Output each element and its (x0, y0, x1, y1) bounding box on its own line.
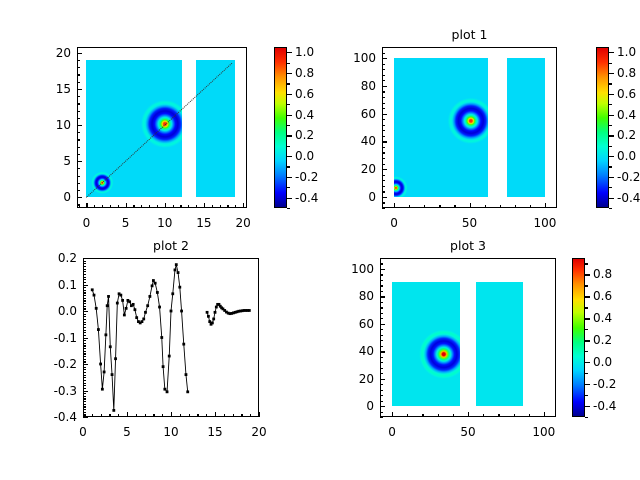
panel-bottom-right-colorbar-minortick (585, 274, 588, 275)
panel-bottom-right-xminortick (483, 414, 484, 417)
panel-bottom-right-yminortick (380, 329, 383, 330)
panel-bottom-right-yminortick (380, 412, 383, 413)
band-background (476, 282, 523, 406)
panel-bottom-right-yminortick (380, 263, 383, 264)
panel-bottom-right-xminortick (453, 414, 454, 417)
panel-bottom-right-colorbar-minortick (585, 307, 588, 308)
panel-bottom-right-colorbar-minortick (585, 417, 588, 418)
panel-bottom-right-yminortick (380, 401, 383, 402)
panel-bottom-right-xminortick (407, 414, 408, 417)
panel-bottom-right-yminortick (380, 258, 383, 259)
panel-bottom-right-colorbar-minortick (585, 406, 588, 407)
panel-bottom-right-colorbar-minortick (585, 351, 588, 352)
panel-bottom-right-colorbar-ticklabel: 0.4 (593, 311, 612, 325)
panel-bottom-right-yminortick (380, 357, 383, 358)
panel-bottom-right-xminortick (392, 414, 393, 417)
panel-bottom-right-yticklabel: 100 (334, 262, 374, 276)
panel-bottom-right-yminortick (380, 362, 383, 363)
panel-bottom-right-colorbar-minortick (585, 362, 588, 363)
panel-bottom-right-yminortick (380, 384, 383, 385)
panel-bottom-right-yminortick (380, 302, 383, 303)
panel-bottom-right-yminortick (380, 296, 383, 297)
panel-bottom-right-yminortick (380, 340, 383, 341)
panel-bottom-right-colorbar-minortick (585, 373, 588, 374)
panel-bottom-right-colorbar-ticklabel: 0.0 (593, 355, 612, 369)
panel-bottom-right-colorbar-ticklabel: -0.4 (593, 399, 616, 413)
panel-bottom-right-colorbar-minortick (585, 318, 588, 319)
panel-bottom-right-image-band (476, 282, 523, 406)
panel-bottom-right-yminortick (380, 395, 383, 396)
panel-bottom-right-colorbar-ticklabel: 0.8 (593, 267, 612, 281)
panel-bottom-right-xminortick (544, 414, 545, 417)
panel-bottom-right-xticklabel: 50 (460, 425, 475, 439)
panel-bottom-right-yminortick (380, 269, 383, 270)
panel-bottom-right-colorbar-minortick (585, 384, 588, 385)
panel-bottom-right-xticklabel: 100 (532, 425, 555, 439)
panel-bottom-right-colorbar-minortick (585, 329, 588, 330)
panel-bottom-right-image-band (392, 282, 460, 406)
panel-bottom-right-yminortick (380, 313, 383, 314)
panel-bottom-right-yminortick (380, 390, 383, 391)
panel-bottom-right-title: plot 3 (380, 238, 556, 253)
panel-bottom-right-colorbar-ticklabel: 0.6 (593, 289, 612, 303)
panel-bottom-right-xminortick (514, 414, 515, 417)
panel-bottom-right-yticklabel: 80 (334, 289, 374, 303)
panel-bottom-right-colorbar-minortick (585, 395, 588, 396)
panel-bottom-right-yminortick (380, 379, 383, 380)
panel-bottom-right-yminortick (380, 417, 383, 418)
panel-bottom-right-xminortick (468, 414, 469, 417)
source-bright-source (418, 328, 460, 380)
panel-bottom-right-xminortick (498, 414, 499, 417)
panel-bottom-right-yticklabel: 0 (334, 399, 374, 413)
panel-bottom-right-yminortick (380, 274, 383, 275)
panel-bottom-right-yminortick (380, 368, 383, 369)
panel-bottom-right-colorbar-minortick (585, 285, 588, 286)
panel-bottom-right-yminortick (380, 285, 383, 286)
panel-bottom-right-colorbar-ticklabel: -0.2 (593, 377, 616, 391)
panel-bottom-right-colorbar (572, 258, 585, 417)
panel-bottom-right-yminortick (380, 324, 383, 325)
panel-bottom-right-yminortick (380, 373, 383, 374)
figure-canvas: 0510152005101520-0.4-0.20.00.20.40.60.81… (0, 0, 640, 480)
panel-bottom-right-yminortick (380, 406, 383, 407)
panel-bottom-right-xminortick (529, 414, 530, 417)
panel-bottom-right-colorbar-minortick (585, 340, 588, 341)
panel-bottom-right-yticklabel: 20 (334, 372, 374, 386)
panel-bottom-right-yminortick (380, 318, 383, 319)
panel-bottom-right-xticklabel: 0 (388, 425, 396, 439)
panel-bottom-right-yminortick (380, 307, 383, 308)
panel-bottom-right-colorbar-minortick (585, 263, 588, 264)
panel-bottom-right-yminortick (380, 280, 383, 281)
panel-bottom-right-yminortick (380, 335, 383, 336)
panel-bottom-right-xminortick (438, 414, 439, 417)
panel-bottom-right: plot 3020406080100050100-0.4-0.20.00.20.… (0, 0, 640, 480)
panel-bottom-right-yminortick (380, 351, 383, 352)
panel-bottom-right-colorbar-minortick (585, 296, 588, 297)
panel-bottom-right-yticklabel: 40 (334, 344, 374, 358)
panel-bottom-right-yminortick (380, 346, 383, 347)
panel-bottom-right-xminortick (422, 414, 423, 417)
panel-bottom-right-yticklabel: 60 (334, 317, 374, 331)
panel-bottom-right-yminortick (380, 291, 383, 292)
panel-bottom-right-colorbar-ticklabel: 0.2 (593, 333, 612, 347)
